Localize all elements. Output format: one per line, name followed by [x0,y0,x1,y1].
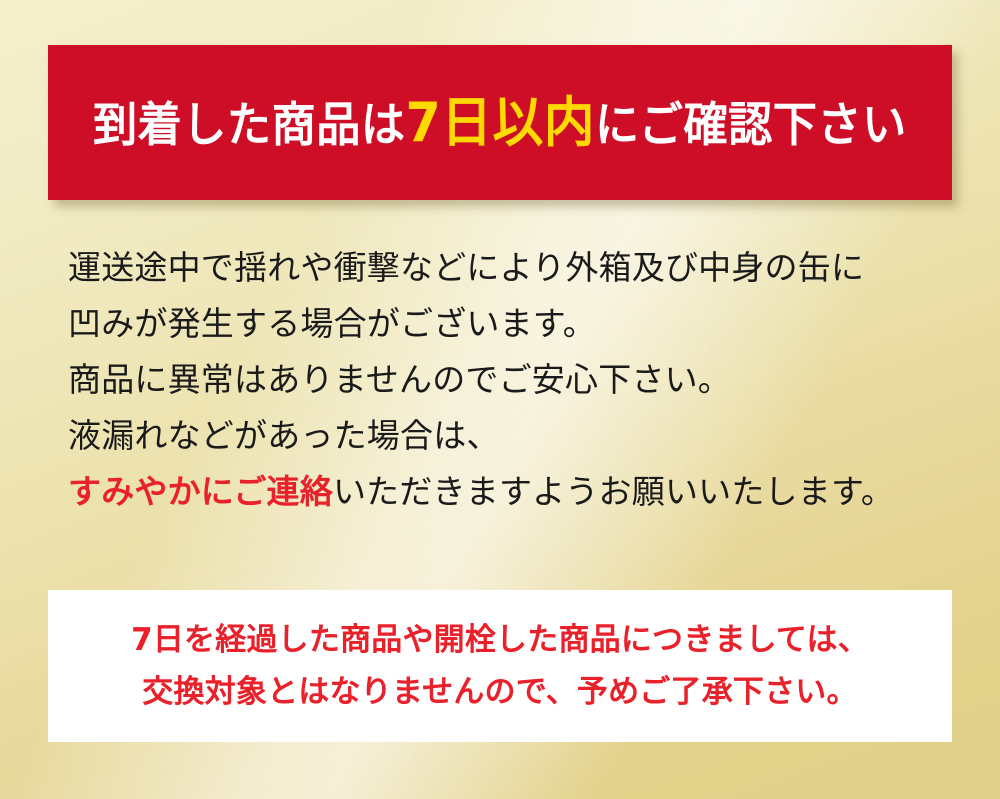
notice-line-2: 交換対象とはなりませんので、予めご了承下さい。 [142,666,857,718]
notice-line-1: 7日を経過した商品や開栓した商品につきましては、 [131,614,869,666]
body-line-5-emphasis: すみやかにご連絡 [68,472,333,511]
body-line-1: 運送途中で揺れや衝撃などにより外箱及び中身の缶に [68,240,948,296]
headline-prefix: 到着した商品は [93,98,406,153]
body-copy: 運送途中で揺れや衝撃などにより外箱及び中身の缶に 凹みが発生する場合がございます… [68,240,948,520]
body-line-5-rest: いただきますようお願いいたします。 [333,472,894,511]
body-line-3: 商品に異常はありませんのでご安心下さい。 [68,352,948,408]
body-line-5: すみやかにご連絡いただきますようお願いいたします。 [68,464,948,520]
promo-notice-banner: 到着した商品は7日以内にご確認下さい 運送途中で揺れや衝撃などにより外箱及び中身… [0,0,1000,799]
body-line-4: 液漏れなどがあった場合は、 [68,408,948,464]
headline-banner: 到着した商品は7日以内にご確認下さい [48,45,952,200]
headline-text: 到着した商品は7日以内にご確認下さい [93,96,907,150]
headline-highlight: 7日以内 [406,91,595,154]
notice-box: 7日を経過した商品や開栓した商品につきましては、 交換対象とはなりませんので、予… [48,590,952,742]
headline-suffix: にご確認下さい [595,98,907,153]
body-line-2: 凹みが発生する場合がございます。 [68,296,948,352]
